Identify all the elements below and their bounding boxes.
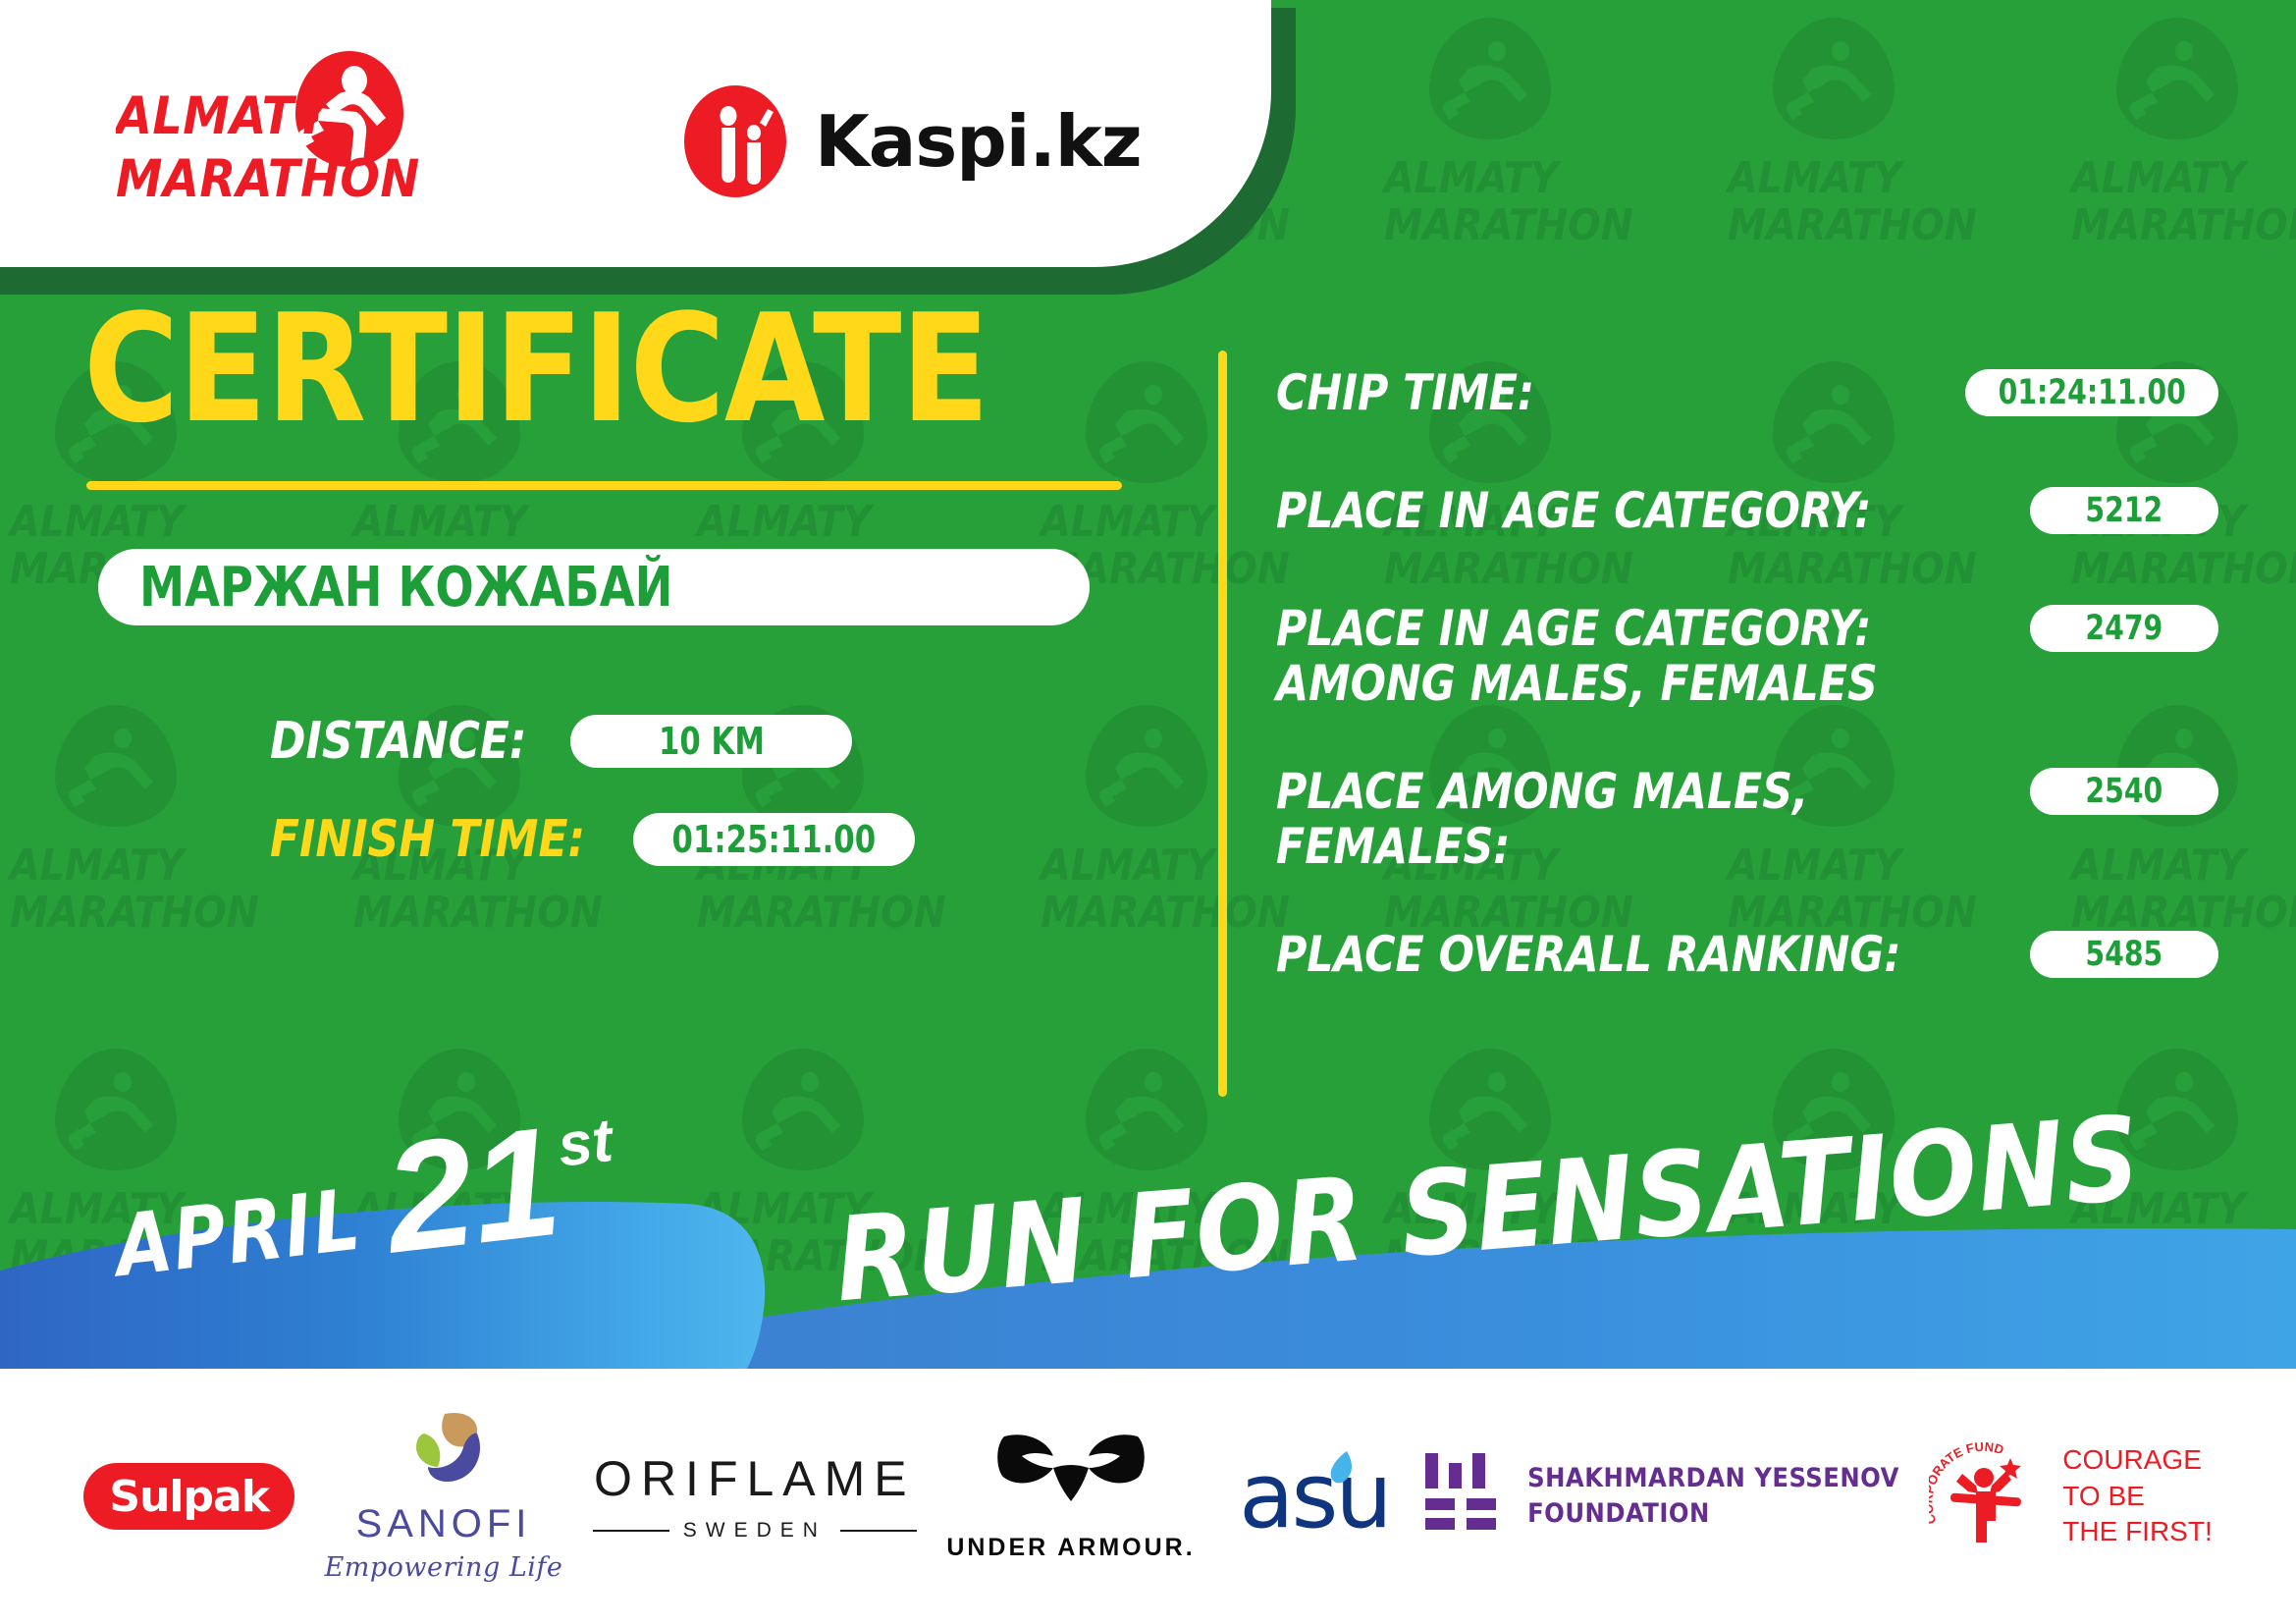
under-armour-mark-icon [992, 1431, 1149, 1524]
distance-value-pill: 10 KM [570, 715, 852, 768]
asu-label: asu [1239, 1443, 1390, 1548]
stat-value: 5485 [2086, 935, 2163, 974]
distance-value: 10 KM [659, 720, 765, 763]
page-title: CERTIFICATE [83, 295, 1183, 444]
sponsor-sulpak: Sulpak [83, 1463, 294, 1530]
sponsor-oriflame: ORIFLAME SWEDEN [593, 1450, 917, 1543]
stat-label: PLACE OVERALL RANKING: [1276, 927, 1900, 982]
vertical-divider [1218, 351, 1227, 1097]
stat-label: PLACE IN AGE CATEGORY: [1276, 483, 1871, 538]
finish-time-value-pill: 01:25:11.00 [633, 813, 915, 866]
asu-teardrop-icon [1323, 1449, 1357, 1489]
stat-row: CHIP TIME: 01:24:11.00 [1276, 365, 2218, 430]
sponsor-bar: Sulpak SANOFI Empowering Life ORIFLAME S… [0, 1369, 2296, 1624]
stat-value: 5212 [2086, 491, 2163, 530]
stat-row: PLACE OVERALL RANKING: 5485 [1276, 927, 2218, 992]
sponsor-sanofi: SANOFI Empowering Life [325, 1410, 563, 1583]
kaspi-label: Kaspi.kz [815, 100, 1142, 183]
sponsor-courage-fund: CORPORATE FUND COURAGE TO BE THE FIRST! [1929, 1442, 2212, 1551]
stat-value: 2479 [2086, 609, 2163, 648]
sulpak-logo: Sulpak [83, 1463, 294, 1530]
stat-value-pill: 5212 [2030, 487, 2218, 534]
oriflame-sub-label: SWEDEN [683, 1519, 827, 1543]
participant-name: МАРЖАН КОЖАБАЙ [139, 556, 672, 620]
sponsor-asu: asu [1225, 1450, 1390, 1543]
stat-value: 2540 [2086, 772, 2163, 811]
sponsor-yessenov-foundation: SHAKHMARDAN YESSENOV FOUNDATION [1419, 1449, 1899, 1543]
courage-fund-label: COURAGE TO BE THE FIRST! [2062, 1442, 2212, 1551]
finish-time-value: 01:25:11.00 [671, 818, 876, 861]
stat-value-pill: 2540 [2030, 768, 2218, 815]
distance-row: DISTANCE: 10 KM [270, 712, 1217, 771]
finish-time-row: FINISH TIME: 01:25:11.00 [270, 810, 1217, 869]
stat-value-pill: 2479 [2030, 605, 2218, 652]
oriflame-label: ORIFLAME [594, 1450, 916, 1507]
under-armour-label: UNDER ARMOUR. [946, 1534, 1195, 1562]
ribbon-month: APRIL [111, 1171, 367, 1297]
stat-label: PLACE IN AGE CATEGORY: AMONG MALES, FEMA… [1276, 601, 1878, 711]
stat-value: 01:24:11.00 [1998, 373, 2185, 412]
left-column: CERTIFICATE МАРЖАН КОЖАБАЙ DISTANCE: 10 … [0, 295, 1217, 869]
almaty-logo-line2: MARATHON [116, 149, 420, 209]
stat-value-pill: 01:24:11.00 [1965, 369, 2218, 416]
stat-row: PLACE IN AGE CATEGORY: AMONG MALES, FEMA… [1276, 601, 2218, 711]
ribbon-day-suffix: st [555, 1106, 616, 1181]
finish-time-label: FINISH TIME: [270, 810, 585, 869]
sponsor-under-armour: UNDER ARMOUR. [946, 1431, 1195, 1562]
almaty-logo-line1: ALMATY [116, 86, 333, 146]
stat-row: PLACE AMONG MALES, FEMALES: 2540 [1276, 764, 2218, 874]
participant-name-field: МАРЖАН КОЖАБАЙ [98, 549, 1090, 625]
distance-label: DISTANCE: [270, 712, 526, 771]
yessenov-mark-icon [1419, 1449, 1504, 1543]
oriflame-subtitle: SWEDEN [593, 1519, 917, 1543]
stat-label: PLACE AMONG MALES, FEMALES: [1276, 764, 1808, 874]
kaspi-logo: Kaspi.kz [677, 83, 1142, 199]
stat-label: CHIP TIME: [1276, 365, 1534, 420]
courage-fund-mark-icon: CORPORATE FUND [1929, 1442, 2047, 1550]
yessenov-label: SHAKHMARDAN YESSENOV FOUNDATION [1527, 1461, 1899, 1533]
stats-column: CHIP TIME: 01:24:11.00 PLACE IN AGE CATE… [1276, 365, 2218, 992]
stat-value-pill: 5485 [2030, 931, 2218, 978]
almaty-marathon-logo: ALMATY MARATHON [116, 47, 440, 219]
certificate-canvas: ALMATY MARATHON Kaspi.kz CERTIFICATE МАР… [0, 0, 2296, 1624]
oriflame-rule-right [840, 1530, 917, 1532]
ribbon-day: 21 [379, 1110, 566, 1272]
title-underline [86, 481, 1122, 490]
kaspi-mark-icon [677, 83, 793, 199]
stat-row: PLACE IN AGE CATEGORY: 5212 [1276, 483, 2218, 548]
sanofi-tagline: Empowering Life [325, 1552, 563, 1583]
header-panel: ALMATY MARATHON Kaspi.kz [0, 0, 1271, 267]
oriflame-rule-left [593, 1530, 669, 1532]
sanofi-label: SANOFI [356, 1502, 532, 1546]
sulpak-label: Sulpak [109, 1472, 269, 1522]
sanofi-mark-icon [391, 1410, 497, 1496]
